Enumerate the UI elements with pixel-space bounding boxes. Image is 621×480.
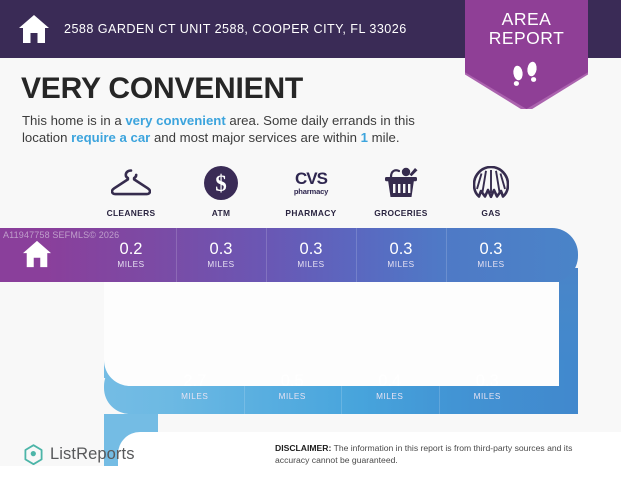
amenity-atm: $ ATM (176, 164, 266, 218)
intro-highlight-1: very convenient (125, 113, 225, 128)
grocery-basket-icon (382, 164, 420, 202)
summary-text: This home is in a very convenient area. … (22, 112, 452, 146)
disclaimer: DISCLAIMER: The information in this repo… (275, 443, 600, 466)
intro-part-4: mile. (368, 130, 400, 145)
distance-unit: MILES (297, 260, 324, 269)
shell-logo (473, 164, 509, 202)
distance-values-row-1: 0.2 MILES 0.3 MILES 0.3 MILES 0.3 MILES … (86, 228, 536, 282)
distance-unit: MILES (387, 260, 414, 269)
amenity-cleaners: CLEANERS (86, 164, 176, 218)
cvs-subtext: pharmacy (294, 188, 328, 196)
amenity-groceries: GROCERIES (356, 164, 446, 218)
distance-ribbon: 0.2 MILES 0.3 MILES 0.3 MILES 0.3 MILES … (0, 228, 621, 414)
distance-value: 2.7 (183, 373, 206, 390)
amenity-label: GROCERIES (374, 208, 427, 218)
amenity-label: PHARMACY (285, 208, 336, 218)
distance-cell: 0.3 MILES (176, 228, 266, 282)
cvs-wordmark: CVS (294, 170, 328, 187)
area-report-infographic: 2588 GARDEN CT UNIT 2588, COOPER CITY, F… (0, 0, 621, 480)
hanger-icon (111, 164, 151, 202)
distance-cell: 0.3 MILES (439, 360, 537, 414)
amenity-label: ATM (212, 208, 231, 218)
intro-highlight-3: 1 (361, 130, 368, 145)
distance-values-row-2: 2.7 MILES 0.5 MILES 0.4 MILES 0.3 MILES (146, 360, 536, 414)
distance-cell: 0.3 MILES (266, 228, 356, 282)
disclaimer-label: DISCLAIMER: (275, 443, 331, 453)
cvs-pharmacy-logo: CVS pharmacy (294, 164, 328, 202)
badge-title-line1: AREA (465, 10, 588, 29)
distance-cell: 0.5 MILES (244, 360, 342, 414)
badge-title-line2: REPORT (465, 29, 588, 48)
footer-base (0, 466, 621, 480)
listreports-wordmark: ListReports (50, 445, 135, 464)
distance-value: 0.5 (281, 373, 304, 390)
distance-value: 0.3 (390, 241, 413, 258)
distance-value: 0.4 (378, 373, 401, 390)
listreports-house-icon (24, 444, 43, 465)
subject-home-icon (22, 240, 52, 268)
mls-watermark: A11947758 SEFMLS© 2026 (3, 230, 119, 240)
intro-part-1: This home is in a (22, 113, 125, 128)
footprints-icon (507, 58, 547, 88)
amenity-icon-row-1: CLEANERS $ ATM CVS pharmacy PHARMACY (86, 164, 536, 218)
distance-value: 0.3 (480, 241, 503, 258)
amenity-pharmacy: CVS pharmacy PHARMACY (266, 164, 356, 218)
distance-cell: 0.4 MILES (341, 360, 439, 414)
intro-highlight-2: require a car (71, 130, 150, 145)
dollar-circle-icon: $ (203, 164, 239, 202)
page-title: VERY CONVENIENT (21, 72, 303, 106)
header-content: 2588 GARDEN CT UNIT 2588, COOPER CITY, F… (18, 0, 407, 58)
distance-unit: MILES (279, 392, 306, 401)
distance-unit: MILES (117, 260, 144, 269)
amenity-label: GAS (481, 208, 500, 218)
amenity-gas: GAS (446, 164, 536, 218)
distance-cell: 2.7 MILES (146, 360, 244, 414)
distance-value: 0.3 (476, 373, 499, 390)
distance-value: 0.2 (120, 241, 143, 258)
distance-unit: MILES (474, 392, 501, 401)
badge-title: AREA REPORT (465, 10, 588, 48)
svg-text:$: $ (215, 171, 227, 196)
listreports-logo[interactable]: ListReports (24, 444, 135, 465)
distance-unit: MILES (477, 260, 504, 269)
property-address: 2588 GARDEN CT UNIT 2588, COOPER CITY, F… (64, 22, 407, 36)
distance-value: 0.3 (210, 241, 233, 258)
intro-part-3: and most major services are within (150, 130, 360, 145)
area-report-badge: AREA REPORT (465, 0, 588, 109)
distance-cell: 0.3 MILES (446, 228, 536, 282)
distance-unit: MILES (181, 392, 208, 401)
distance-value: 0.3 (300, 241, 323, 258)
distance-unit: MILES (207, 260, 234, 269)
distance-unit: MILES (376, 392, 403, 401)
amenity-label: CLEANERS (107, 208, 156, 218)
home-icon (18, 14, 50, 44)
distance-cell: 0.3 MILES (356, 228, 446, 282)
